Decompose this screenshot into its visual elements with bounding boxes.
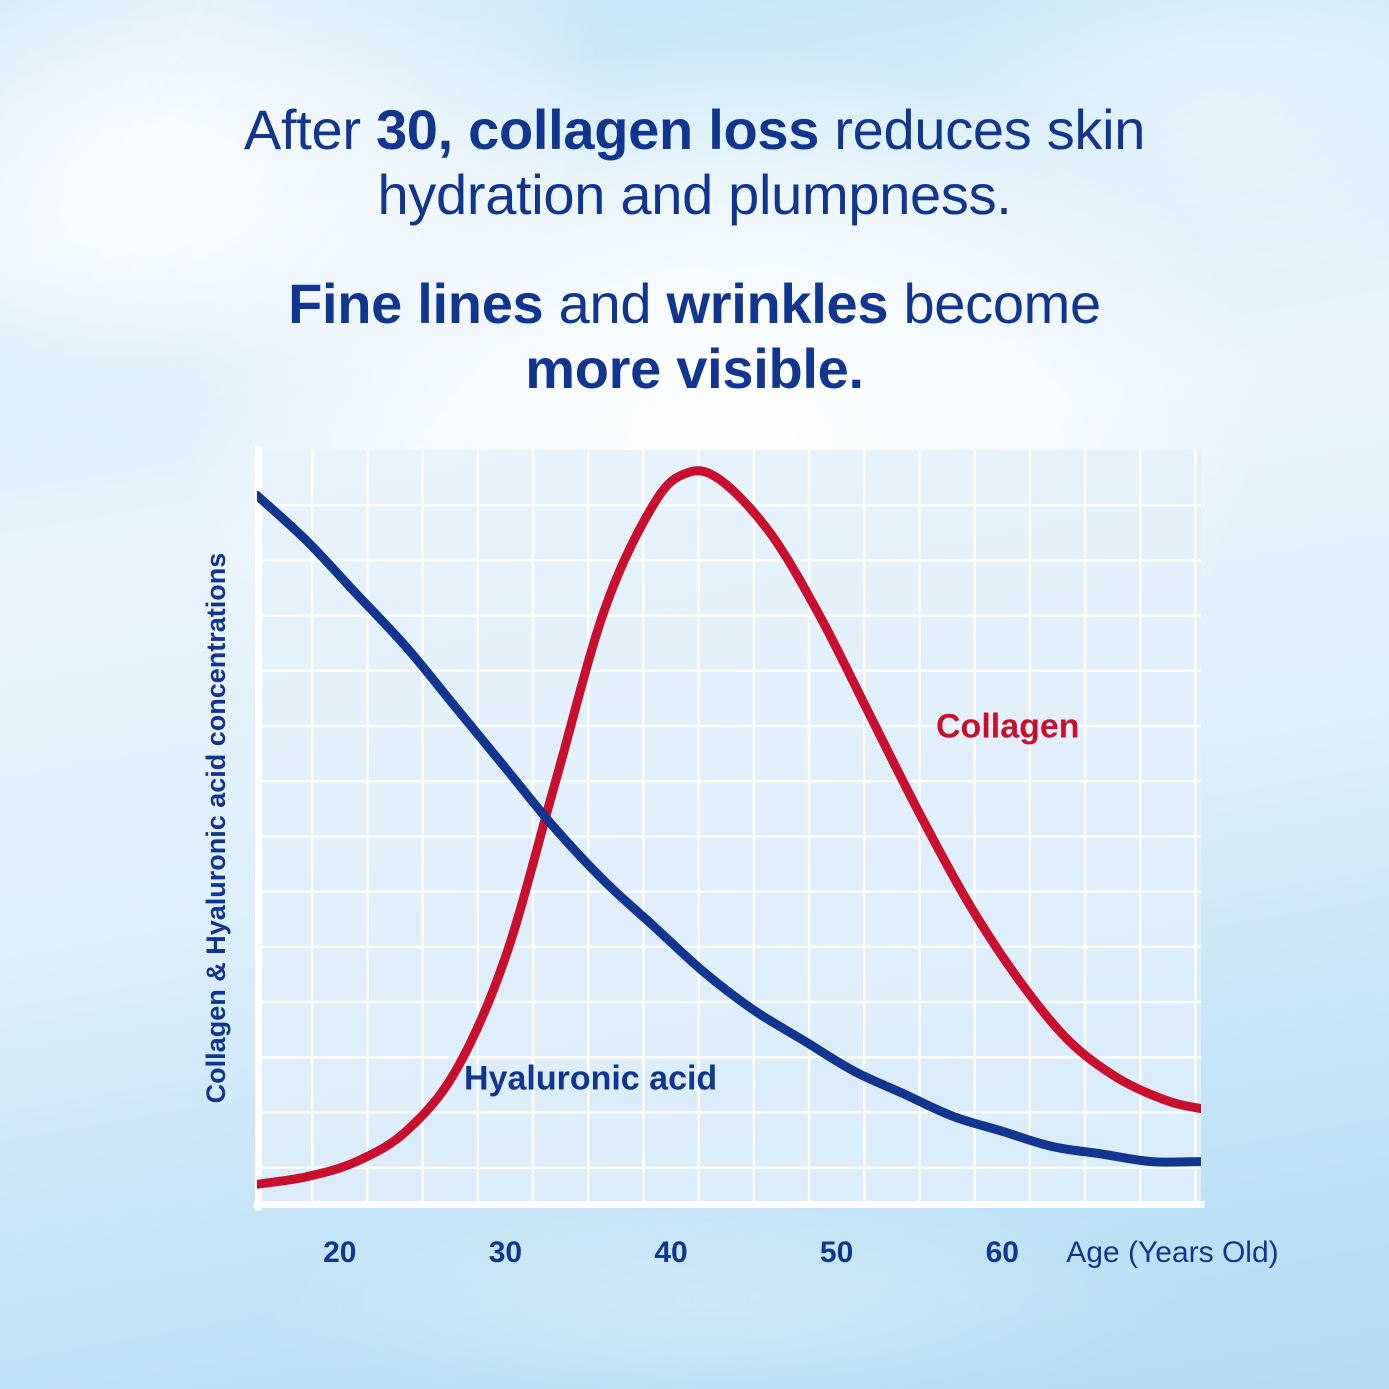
headline-secondary-seg-become: become [888, 272, 1101, 335]
series-line-hyaluronic-acid [257, 495, 1201, 1162]
x-axis-tick-50: 50 [820, 1236, 853, 1269]
headline-primary-seg-after: After [244, 98, 376, 161]
x-axis-title: Age (Years Old) [1066, 1236, 1278, 1269]
background-haze-bottom [240, 1190, 1200, 1389]
x-axis-tick-labels: 2030405060 [323, 1236, 1019, 1269]
headline-secondary-line-1: Fine lines and wrinkles become [0, 272, 1389, 337]
series-label-hyaluronic-acid: Hyaluronic acid [464, 1060, 717, 1098]
x-axis-tick-20: 20 [323, 1236, 356, 1269]
headline-secondary-seg-fine-lines: Fine lines [288, 272, 543, 335]
chart-gridlines [257, 450, 1201, 1207]
y-axis-title: Collagen & Hyaluronic acid concentration… [201, 553, 231, 1104]
headline-primary-line-2: hydration and plumpness. [0, 163, 1389, 228]
headline-secondary-seg-wrinkles: wrinkles [666, 272, 888, 335]
series-label-collagen: Collagen [936, 708, 1080, 746]
headline-secondary-line-2: more visible. [0, 337, 1389, 402]
headline-primary: After 30, collagen loss reduces skin hyd… [0, 98, 1389, 228]
series-line-collagen [257, 471, 1201, 1185]
plot-area-background [257, 450, 1201, 1207]
headline-primary-line-1: After 30, collagen loss reduces skin [0, 98, 1389, 163]
headline-secondary: Fine lines and wrinkles become more visi… [0, 272, 1389, 402]
x-axis-tick-30: 30 [489, 1236, 522, 1269]
x-axis-tick-40: 40 [654, 1236, 687, 1269]
poster-canvas: After 30, collagen loss reduces skin hyd… [0, 0, 1389, 1389]
headline-primary-seg-emphasis: 30, collagen loss [376, 98, 819, 161]
headline-secondary-seg-and: and [543, 272, 666, 335]
headline-primary-seg-rest: reduces skin [819, 98, 1145, 161]
x-axis-tick-60: 60 [986, 1236, 1019, 1269]
